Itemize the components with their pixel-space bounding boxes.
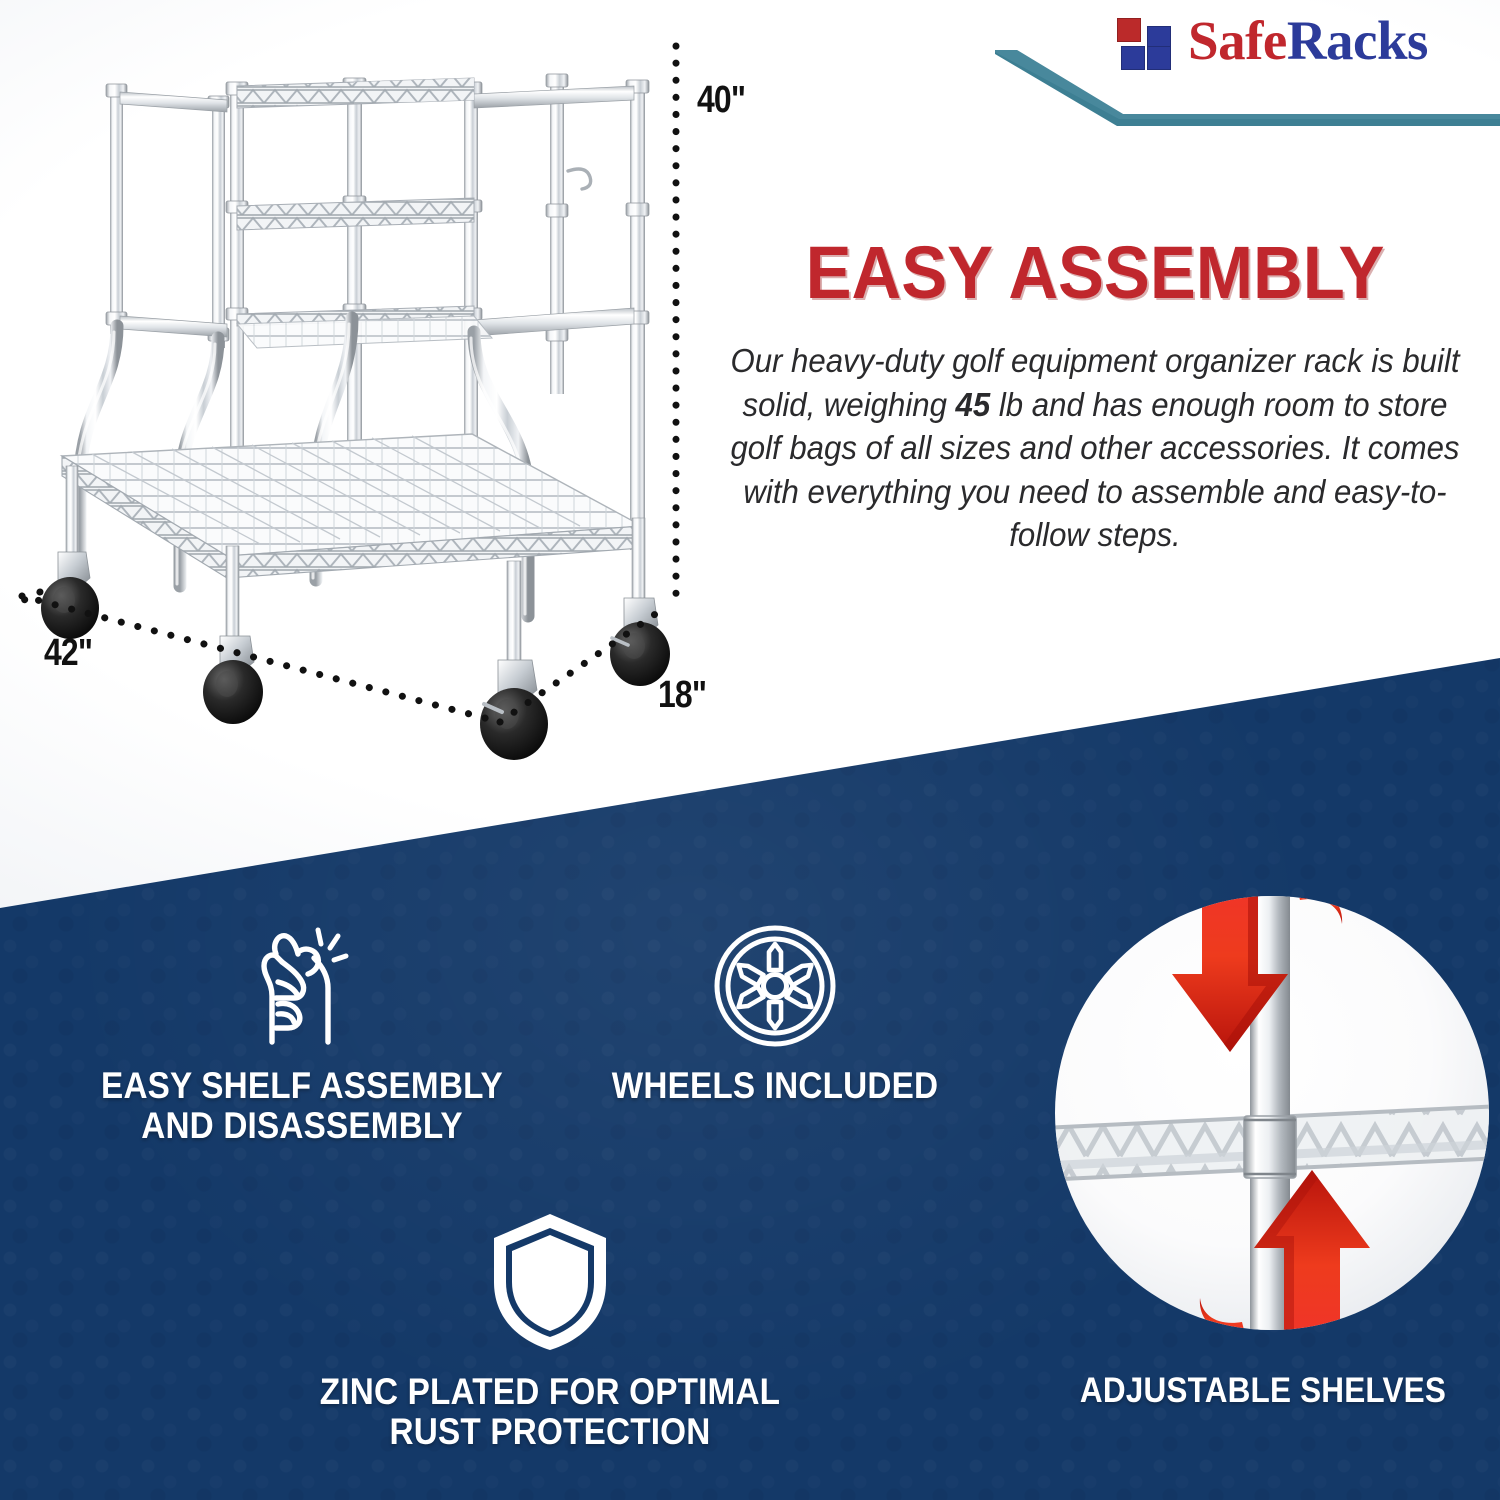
feature-label-line1: ZINC PLATED FOR OPTIMAL <box>280 1372 820 1412</box>
feature-label-line1: EASY SHELF ASSEMBLY <box>77 1066 527 1106</box>
feature-zinc-plated: ZINC PLATED FOR OPTIMAL RUST PROTECTION <box>250 1208 850 1453</box>
feature-adjustable-shelves: ADJUSTABLE SHELVES <box>1048 1372 1478 1410</box>
saferacks-squares-logo <box>1117 12 1177 68</box>
snapping-fingers-icon <box>242 918 362 1050</box>
feature-wheels-included: WHEELS INCLUDED <box>560 922 990 1106</box>
rack-drawing <box>22 56 722 776</box>
feature-label-line1: ADJUSTABLE SHELVES <box>1070 1372 1457 1410</box>
feature-label-adjustable-shelves: ADJUSTABLE SHELVES <box>1070 1372 1457 1410</box>
wheel-icon <box>711 922 839 1050</box>
adjustable-shelves-illustration <box>1052 866 1492 1360</box>
brand-name-part2: Racks <box>1287 10 1428 71</box>
feature-label-line2: RUST PROTECTION <box>280 1412 820 1452</box>
feature-easy-shelf-assembly: EASY SHELF ASSEMBLY AND DISASSEMBLY <box>52 918 552 1147</box>
brand-wordmark: SafeRacks <box>1188 13 1428 68</box>
product-description: Our heavy-duty golf equipment organizer … <box>728 340 1463 558</box>
infographic-canvas: SafeRacks <box>0 0 1500 1500</box>
feature-label-line2: AND DISASSEMBLY <box>77 1106 527 1146</box>
weight-value: 45 <box>956 387 991 424</box>
page-title: EASY ASSEMBLY <box>728 236 1463 310</box>
brand-name-part1: Safe <box>1188 10 1287 71</box>
feature-label-zinc-plated: ZINC PLATED FOR OPTIMAL RUST PROTECTION <box>280 1372 820 1453</box>
feature-label-easy-shelf-assembly: EASY SHELF ASSEMBLY AND DISASSEMBLY <box>77 1066 527 1147</box>
brand-logo: SafeRacks <box>1117 12 1428 68</box>
shield-icon <box>486 1208 614 1356</box>
product-image-golf-rack <box>22 56 722 776</box>
feature-label-line1: WHEELS INCLUDED <box>582 1066 969 1106</box>
up-down-arrows-pole-icon <box>1052 866 1492 1360</box>
feature-label-wheels-included: WHEELS INCLUDED <box>582 1066 969 1106</box>
weight-unit: lb <box>990 387 1023 424</box>
